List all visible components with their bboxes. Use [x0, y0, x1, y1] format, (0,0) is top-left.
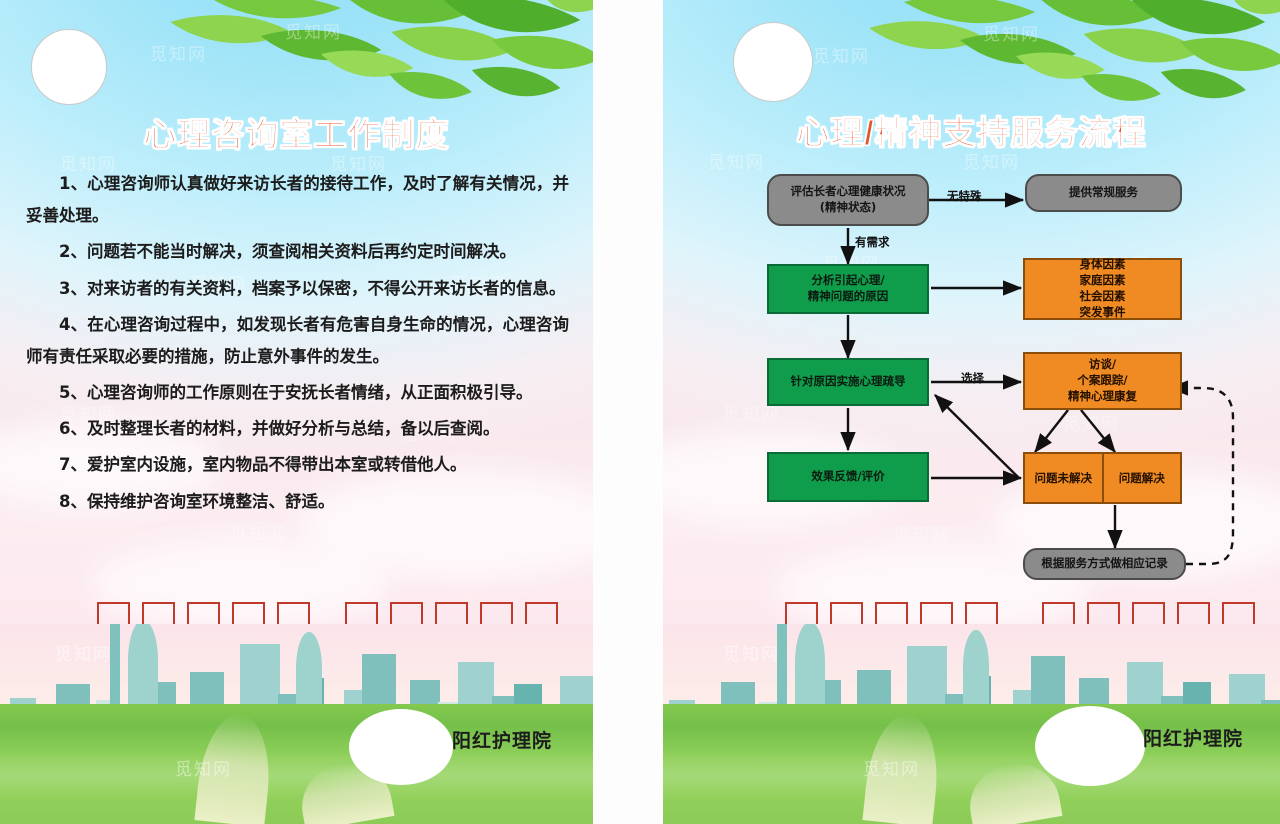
flow-node-result-pair: 问题未解决 问题解决 — [1023, 452, 1182, 504]
grass-highlight — [0, 752, 593, 798]
city-skyline-decoration — [0, 624, 593, 824]
flow-node-label: 分析引起心理/ 精神问题的原因 — [808, 273, 889, 305]
right-poster-panel: 觅知网 觅知网 觅知网 觅知网 觅知网 觅知网 觅知网 觅知网 觅知网 心理/精… — [663, 0, 1280, 824]
flow-node-methods[interactable]: 访谈/ 个案跟踪/ 精神心理康复 — [1023, 352, 1182, 410]
flow-node-record[interactable]: 根据服务方式做相应记录 — [1023, 548, 1186, 580]
flow-node-label: 评估长者心理健康状况 (精神状态) — [791, 184, 906, 216]
flow-edge-label-choose: 选择 — [961, 370, 984, 386]
flow-node-label: 访谈/ 个案跟踪/ 精神心理康复 — [1068, 357, 1137, 405]
flow-node-label: 根据服务方式做相应记录 — [1041, 556, 1168, 572]
flow-node-feedback[interactable]: 效果反馈/评价 — [767, 452, 929, 502]
flow-node-solved[interactable]: 问题解决 — [1102, 454, 1181, 502]
flow-node-label: 问题未解决 — [1035, 470, 1093, 486]
rule-item: 2、问题若不能当时解决，须查阅相关资料后再约定时间解决。 — [26, 236, 569, 268]
rule-item: 3、对来访者的有关资料，档案予以保密，不得公开来访长者的信息。 — [26, 273, 569, 305]
flow-edge-label-has-need: 有需求 — [855, 234, 890, 250]
flow-edge-label-no-special: 无特殊 — [947, 188, 982, 204]
page-title: 心理咨询室工作制度 — [0, 108, 593, 156]
flow-node-label: 提供常规服务 — [1069, 185, 1138, 201]
grass-highlight — [663, 752, 1280, 798]
rule-item: 8、保持维护咨询室环境整洁、舒适。 — [26, 486, 569, 518]
poster-stage: 觅知网 觅知网 觅知网 觅知网 觅知网 觅知网 觅知网 觅知网 觅知网 心理咨询… — [0, 0, 1280, 824]
logo-placeholder-ellipse — [349, 709, 453, 785]
flow-node-counsel[interactable]: 针对原因实施心理疏导 — [767, 358, 929, 406]
rule-item: 4、在心理咨询过程中，如发现长者有危害自身生命的情况，心理咨询师有责任采取必要的… — [26, 309, 569, 373]
rule-item: 6、及时整理长者的材料，并做好分析与总结，备以后查阅。 — [26, 413, 569, 445]
rule-item: 5、心理咨询师的工作原则在于安抚长者情绪，从正面积极引导。 — [26, 377, 569, 409]
logo-placeholder-circle — [31, 29, 107, 105]
logo-placeholder-circle — [733, 22, 813, 102]
flow-node-unsolved[interactable]: 问题未解决 — [1025, 454, 1102, 502]
flow-node-analyze[interactable]: 分析引起心理/ 精神问题的原因 — [767, 264, 929, 314]
footer-brand-label: 阳红护理院 — [452, 726, 552, 753]
page-title: 心理/精神支持服务流程 — [663, 106, 1280, 154]
flow-node-label: 针对原因实施心理疏导 — [791, 374, 906, 390]
service-flow-diagram: 评估长者心理健康状况 (精神状态) 提供常规服务 分析引起心理/ 精神问题的原因… — [663, 160, 1280, 590]
rules-list: 1、心理咨询师认真做好来访长者的接待工作，及时了解有关情况，并妥善处理。 2、问… — [26, 168, 569, 522]
flow-node-routine[interactable]: 提供常规服务 — [1025, 174, 1182, 212]
panel-gap — [593, 0, 663, 824]
flow-node-label: 效果反馈/评价 — [811, 469, 884, 485]
logo-placeholder-ellipse — [1035, 706, 1145, 786]
footer-brand-label: 阳红护理院 — [1143, 724, 1243, 751]
left-poster-panel: 觅知网 觅知网 觅知网 觅知网 觅知网 觅知网 觅知网 觅知网 觅知网 心理咨询… — [0, 0, 595, 824]
rule-item: 1、心理咨询师认真做好来访长者的接待工作，及时了解有关情况，并妥善处理。 — [26, 168, 569, 232]
flow-node-label: 问题解决 — [1119, 470, 1165, 486]
flow-node-assess[interactable]: 评估长者心理健康状况 (精神状态) — [767, 174, 929, 226]
rule-item: 7、爱护室内设施，室内物品不得带出本室或转借他人。 — [26, 449, 569, 481]
flow-node-label: 身体因素 家庭因素 社会因素 突发事件 — [1080, 257, 1126, 320]
flow-node-factors[interactable]: 身体因素 家庭因素 社会因素 突发事件 — [1023, 258, 1182, 320]
